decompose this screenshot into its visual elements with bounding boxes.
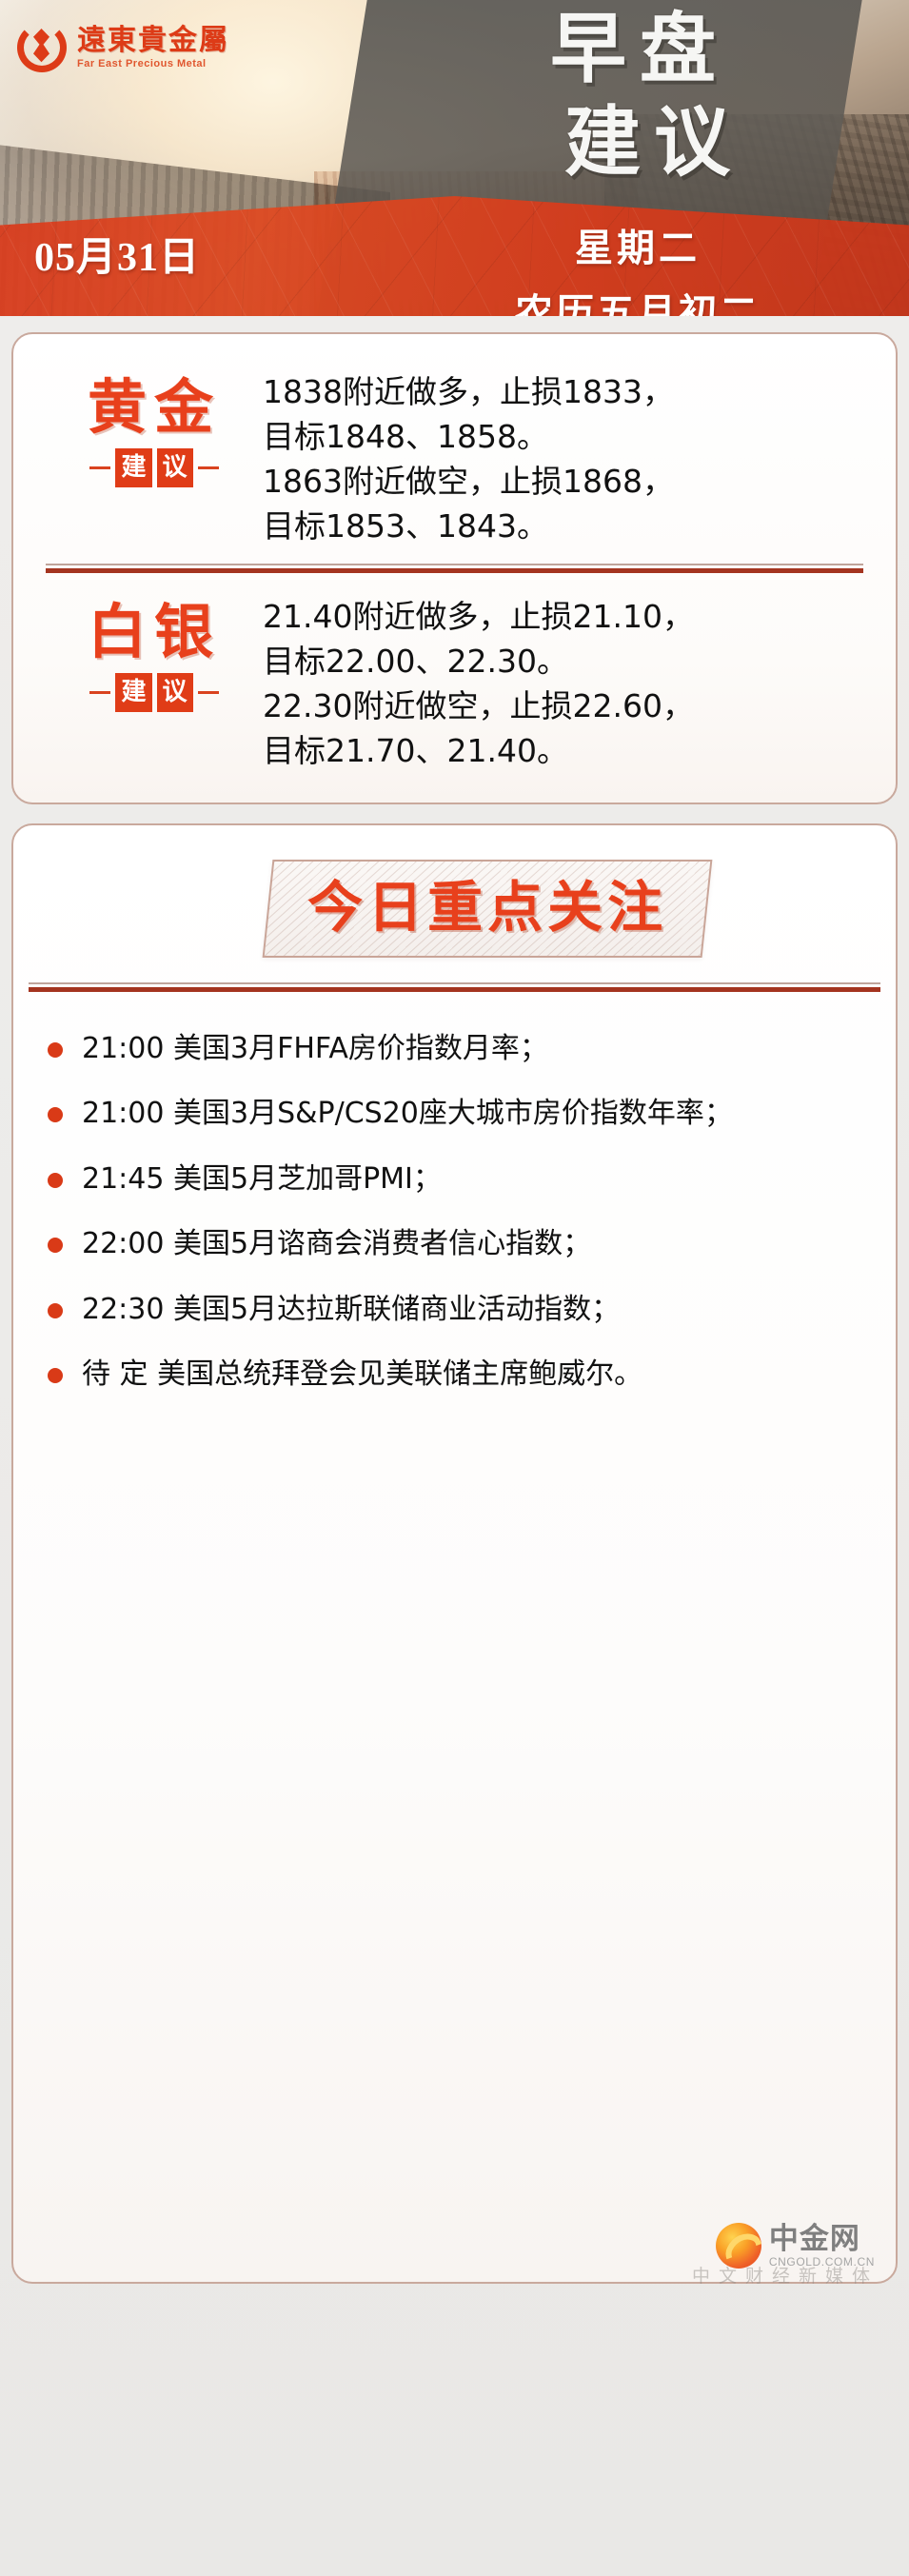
advice-divider bbox=[46, 564, 863, 572]
tag-dash-left-icon bbox=[89, 691, 110, 694]
date-detail: 星期二 农历五月初二 bbox=[390, 217, 885, 316]
date-text: 05月31日 bbox=[34, 225, 200, 283]
gold-advice-line-3: 1863附近做空，止损1868， bbox=[263, 460, 873, 505]
gold-badge: 黄金 建 议 bbox=[55, 365, 253, 487]
focus-card: 今日重点关注 21:00 美国3月FHFA房价指数月率； 21:00 美国3月S… bbox=[11, 823, 898, 2284]
watermark-name: 中金网 bbox=[769, 2224, 875, 2253]
brand-name-en: Far East Precious Metal bbox=[77, 59, 229, 69]
silver-badge: 白银 建 议 bbox=[55, 589, 253, 712]
focus-heading-text: 今日重点关注 bbox=[308, 879, 668, 937]
gold-tag: 建 议 bbox=[55, 448, 253, 487]
brand-name-cn: 遠東貴金屬 bbox=[77, 27, 229, 55]
list-item: 待 定 美国总统拜登会见美联储主席鲍威尔。 bbox=[34, 1353, 875, 1397]
list-item: 21:45 美国5月芝加哥PMI； bbox=[34, 1158, 875, 1202]
lunar-date-text: 农历五月初二 bbox=[390, 282, 885, 316]
gold-advice-line-2: 目标1848、1858。 bbox=[263, 415, 873, 460]
poster-page: 遠東貴金屬 Far East Precious Metal 早盘 建议 05月3… bbox=[0, 0, 909, 2576]
page-title: 早盘 建议 bbox=[430, 10, 849, 183]
silver-label: 白银 bbox=[55, 603, 253, 662]
silver-advice-line-3: 22.30附近做空，止损22.60， bbox=[263, 684, 873, 729]
weekday-text: 星期二 bbox=[390, 217, 885, 272]
tag-dash-right-icon bbox=[198, 691, 219, 694]
gold-tag-char-2: 议 bbox=[157, 448, 193, 487]
silver-tag-char-2: 议 bbox=[157, 673, 193, 712]
far-east-emblem-icon bbox=[15, 21, 69, 74]
hero-header: 遠東貴金屬 Far East Precious Metal 早盘 建议 05月3… bbox=[0, 0, 909, 316]
focus-heading-wrap: 今日重点关注 bbox=[13, 825, 896, 977]
advice-row-silver: 白银 建 议 21.40附近做多，止损21.10， 目标22.00、22.30。… bbox=[30, 576, 879, 783]
list-item: 21:00 美国3月FHFA房价指数月率； bbox=[34, 1027, 875, 1072]
tag-dash-right-icon bbox=[198, 466, 219, 469]
watermark-slogan: 中文财经新媒体 bbox=[692, 2262, 879, 2288]
gold-advice-line-1: 1838附近做多，止损1833， bbox=[263, 370, 873, 415]
advice-card: 黄金 建 议 1838附近做多，止损1833， 目标1848、1858。 186… bbox=[11, 332, 898, 804]
gold-advice-text: 1838附近做多，止损1833， 目标1848、1858。 1863附近做空，止… bbox=[263, 365, 873, 548]
tag-dash-left-icon bbox=[89, 466, 110, 469]
silver-advice-line-1: 21.40附近做多，止损21.10， bbox=[263, 595, 873, 640]
silver-advice-text: 21.40附近做多，止损21.10， 目标22.00、22.30。 22.30附… bbox=[263, 589, 873, 773]
focus-divider bbox=[29, 982, 880, 991]
focus-heading-plate: 今日重点关注 bbox=[263, 860, 713, 958]
list-item: 21:00 美国3月S&P/CS20座大城市房价指数年率； bbox=[34, 1092, 875, 1137]
gold-label: 黄金 bbox=[55, 378, 253, 437]
page-title-line1: 早盘 bbox=[430, 10, 849, 89]
brand-logo: 遠東貴金屬 Far East Precious Metal bbox=[15, 21, 229, 74]
list-item: 22:30 美国5月达拉斯联储商业活动指数； bbox=[34, 1288, 875, 1333]
silver-advice-line-4: 目标21.70、21.40。 bbox=[263, 729, 873, 774]
focus-list: 21:00 美国3月FHFA房价指数月率； 21:00 美国3月S&P/CS20… bbox=[13, 995, 896, 1428]
page-title-line2: 建议 bbox=[459, 103, 849, 183]
gold-advice-line-4: 目标1853、1843。 bbox=[263, 505, 873, 549]
silver-tag: 建 议 bbox=[55, 673, 253, 712]
advice-row-gold: 黄金 建 议 1838附近做多，止损1833， 目标1848、1858。 186… bbox=[30, 351, 879, 558]
silver-tag-char-1: 建 bbox=[115, 673, 151, 712]
silver-advice-line-2: 目标22.00、22.30。 bbox=[263, 640, 873, 684]
list-item: 22:00 美国5月谘商会消费者信心指数； bbox=[34, 1222, 875, 1267]
gold-tag-char-1: 建 bbox=[115, 448, 151, 487]
